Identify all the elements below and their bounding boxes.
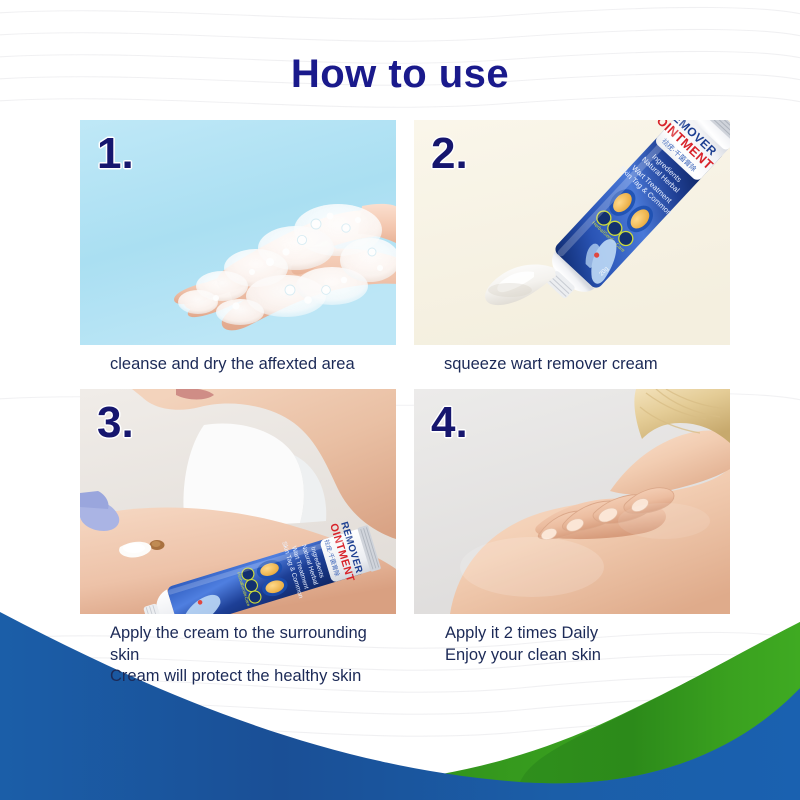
step-1-caption: cleanse and dry the affexted area bbox=[80, 354, 396, 376]
steps-grid: 1. cleanse and dry the affexted area bbox=[80, 120, 720, 688]
step-3-caption: Apply the cream to the surrounding skin … bbox=[80, 623, 396, 688]
step-3-number: 3. bbox=[97, 401, 134, 445]
step-2-photo-frame: REMOVER OINTMENT 祛疣·千菌膏除 Natural Herbal … bbox=[414, 120, 730, 345]
how-to-use-infographic: How to use bbox=[0, 0, 800, 800]
step-card-2: REMOVER OINTMENT 祛疣·千菌膏除 Natural Herbal … bbox=[414, 120, 730, 376]
step-card-1: 1. cleanse and dry the affexted area bbox=[80, 120, 396, 376]
step-card-3: REMOVER OINTMENT 祛疣·千菌膏除 Natural Herbal … bbox=[80, 389, 396, 688]
step-3-photo-frame: REMOVER OINTMENT 祛疣·千菌膏除 Natural Herbal … bbox=[80, 389, 396, 614]
steps-row-top: 1. cleanse and dry the affexted area bbox=[80, 120, 720, 376]
step-4-caption: Apply it 2 times Daily Enjoy your clean … bbox=[414, 623, 730, 667]
step-1-photo-frame: 1. bbox=[80, 120, 396, 345]
step-4-number: 4. bbox=[431, 401, 468, 445]
step-2-caption: squeeze wart remover cream bbox=[414, 354, 730, 376]
step-2-number: 2. bbox=[431, 132, 468, 176]
step-4-photo-frame: 4. bbox=[414, 389, 730, 614]
page-title: How to use bbox=[0, 52, 800, 97]
step-card-4: 4. Apply it 2 times Daily Enjoy your cle… bbox=[414, 389, 730, 688]
steps-row-bottom: REMOVER OINTMENT 祛疣·千菌膏除 Natural Herbal … bbox=[80, 389, 720, 688]
step-1-number: 1. bbox=[97, 132, 134, 176]
